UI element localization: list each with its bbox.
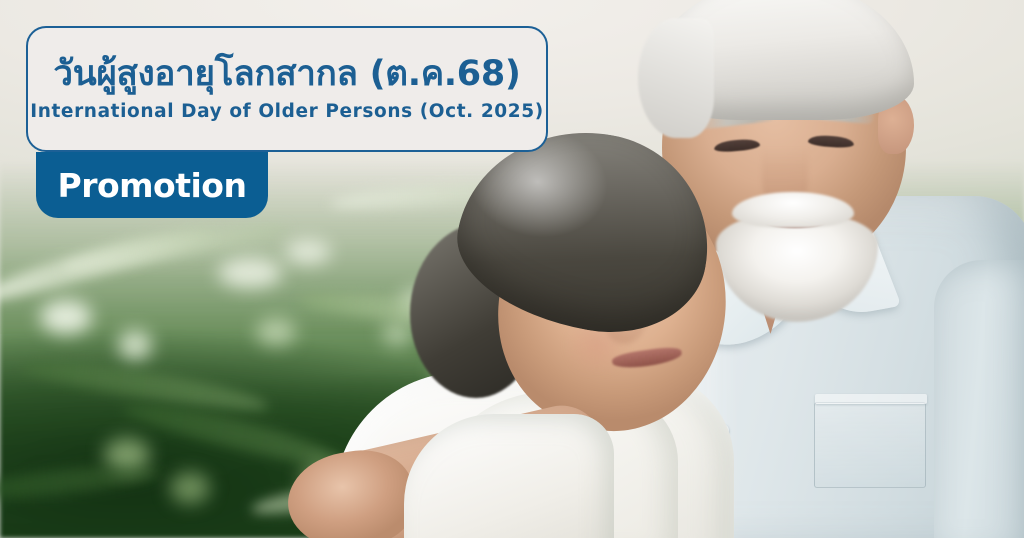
headline-card: วันผู้สูงอายุโลกสากล (ต.ค.68) Internatio… (26, 26, 548, 152)
thai-headline: วันผู้สูงอายุโลกสากล (ต.ค.68) (53, 56, 520, 94)
bokeh-highlight (218, 258, 282, 288)
bokeh-highlight (382, 322, 412, 346)
english-subtitle: International Day of Older Persons (Oct.… (30, 101, 544, 122)
bokeh-highlight (40, 300, 92, 334)
promotion-banner: วันผู้สูงอายุโลกสากล (ต.ค.68) Internatio… (0, 0, 1024, 538)
man-mustache (732, 192, 854, 228)
promotion-badge[interactable]: Promotion (36, 152, 268, 218)
bokeh-highlight (170, 472, 210, 504)
bokeh-highlight (118, 330, 152, 360)
bokeh-highlight (285, 240, 331, 264)
man-sleeve (934, 260, 1024, 538)
shirt-pocket (814, 402, 926, 488)
elderly-couple (464, 0, 1024, 538)
man-hair-side (638, 18, 714, 138)
promotion-badge-label: Promotion (58, 169, 247, 202)
bokeh-highlight (256, 318, 296, 346)
